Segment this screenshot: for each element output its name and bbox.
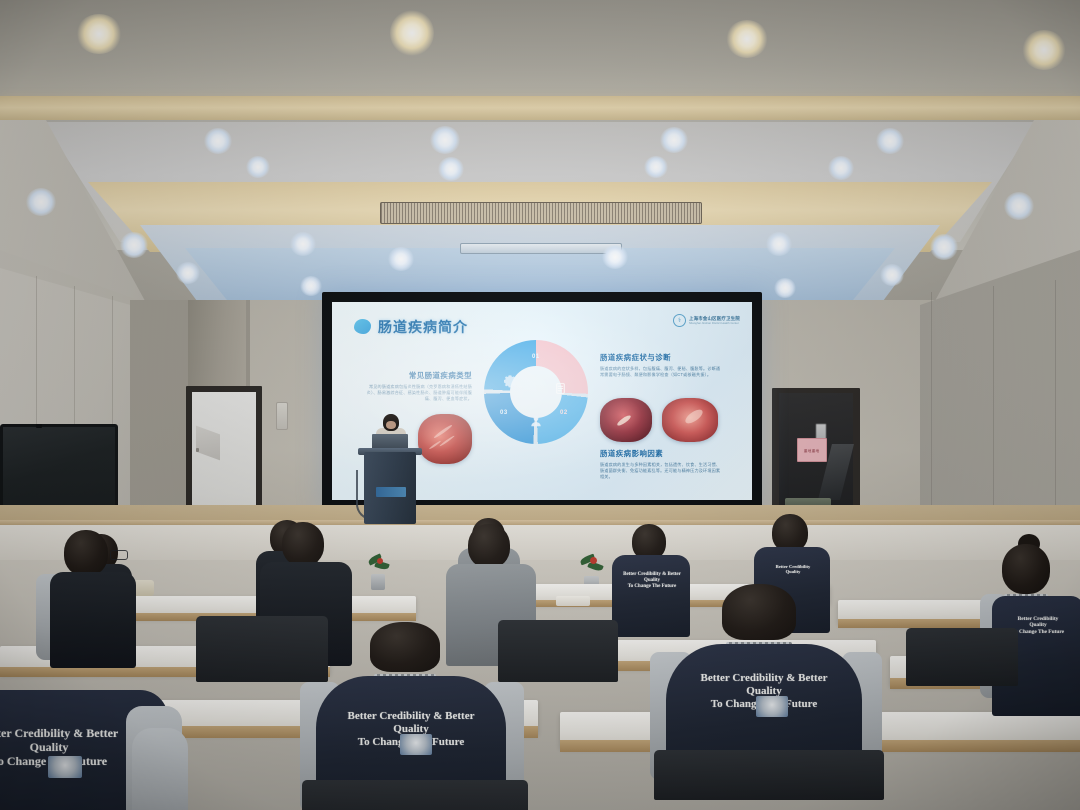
display-camera-icon xyxy=(36,424,42,428)
hospital-logo-icon: ⚕ xyxy=(673,314,686,327)
ceiling-light xyxy=(876,128,904,154)
door-sign-right: 重地重地 xyxy=(797,438,827,462)
mascot-icon xyxy=(756,696,788,717)
ceiling-cove-light-1 xyxy=(0,96,1080,122)
ceiling-light xyxy=(1004,192,1034,220)
section-body-symptoms: 肠道疾病的症状多样，包括腹痛、腹泻、便秘、腹胀等。诊断通常需要电子肠镜、粼便和影… xyxy=(600,366,722,378)
section-heading-common-types: 常见肠道疾病类型 xyxy=(368,370,472,381)
mascot-icon xyxy=(48,756,82,778)
air-vent-upper xyxy=(380,202,702,224)
endoscopy-image-right-2 xyxy=(662,398,718,442)
ceiling-light xyxy=(774,278,796,298)
jacket-line-1b: & Better xyxy=(433,710,474,722)
ceiling-light xyxy=(660,127,688,153)
ceiling-light xyxy=(644,156,668,178)
chair-back[interactable] xyxy=(498,620,618,682)
presenter-face xyxy=(386,421,396,429)
person-icon xyxy=(529,414,543,428)
jacket-line-1b: & Better xyxy=(662,572,681,577)
section-body-factors: 肠道疾病的发生与多种因素相关，包括遗传、饮食、生活习惯、肠道菌群失衡、免疫功能紊… xyxy=(600,462,724,480)
gear-icon xyxy=(502,372,518,388)
ceiling-light xyxy=(828,156,854,180)
jacket-line-2: Quality xyxy=(786,569,801,574)
process-donut-diagram: 01 02 03 xyxy=(484,340,588,444)
ceiling-light xyxy=(438,157,464,181)
jacket-line-2: Quality xyxy=(1029,622,1046,628)
slide-logo: ⚕ 上海市金山区医疗卫生院 Shanghai Jinshan District … xyxy=(673,314,740,327)
table-items-center xyxy=(556,596,590,606)
ceiling-light xyxy=(388,247,414,271)
endoscopy-highlight xyxy=(616,414,632,427)
jacket-line-3: To Change The Future xyxy=(628,584,676,589)
endoscopy-image-left xyxy=(418,414,472,464)
jacket-line-1: Better Credibility xyxy=(0,726,70,740)
jacket-line-1: Better Credibility xyxy=(623,572,661,577)
glasses-icon xyxy=(110,550,128,560)
light-switch-left[interactable] xyxy=(276,402,288,430)
jacket-line-3: To Change The Future xyxy=(1012,629,1064,635)
chair-front[interactable] xyxy=(302,780,528,810)
donut-label-02: 02 xyxy=(560,410,568,416)
ceiling-light xyxy=(246,156,270,178)
section-heading-factors: 肠道疾病影响因素 xyxy=(600,448,663,459)
plant-left xyxy=(366,556,392,592)
chair-back[interactable] xyxy=(906,628,1018,686)
ceiling-light xyxy=(120,232,148,258)
jacket-line-1b: & Better xyxy=(73,726,118,740)
air-vent-lower xyxy=(460,243,622,254)
chair-front[interactable] xyxy=(654,750,884,800)
endoscopy-highlight xyxy=(683,407,705,426)
jacket-text-block: Better Credibility Quality xyxy=(766,564,820,575)
ceiling-light xyxy=(726,20,768,58)
donut-label-03: 03 xyxy=(500,410,508,416)
ceiling-light xyxy=(204,128,232,154)
ceiling-light xyxy=(290,232,316,256)
jacket-line-1b: & Better xyxy=(786,672,827,684)
slide-title: 肠道疾病简介 xyxy=(378,317,468,337)
jacket-text-block: Better Credibility & Better Quality To C… xyxy=(622,572,682,590)
endoscopy-image-right-1 xyxy=(600,398,652,442)
title-bullet-icon xyxy=(354,319,371,334)
document-icon xyxy=(554,382,567,395)
jacket-line-1: Better Credibility xyxy=(348,710,431,722)
ceiling-light xyxy=(76,14,122,54)
ceiling-light xyxy=(602,245,628,269)
ceiling-light xyxy=(176,262,200,284)
ceiling-light xyxy=(1022,30,1066,70)
ceiling-light xyxy=(880,264,904,286)
ceiling-light xyxy=(390,10,434,56)
door-sign-text: 重地重地 xyxy=(804,448,820,453)
logo-subname: Shanghai Jinshan District Health Center xyxy=(689,322,740,325)
section-heading-symptoms: 肠道疾病症状与诊断 xyxy=(600,352,671,363)
jacket-line-1: Better Credibility xyxy=(701,672,784,684)
ceiling-light xyxy=(26,188,56,216)
podium-logo xyxy=(376,487,406,497)
conference-room-photo: 重地重地 肠道疾病简介 ⚕ 上海市金山区医疗卫生院 Shanghai Jinsh… xyxy=(0,0,1080,810)
donut-label-01: 01 xyxy=(532,354,540,360)
ceiling-light xyxy=(430,126,460,154)
ceiling-light xyxy=(766,232,792,256)
ceiling-light xyxy=(300,276,322,296)
jacket-line-2: Quality xyxy=(30,740,69,754)
endoscopy-highlight xyxy=(439,435,455,447)
section-body-common-types: 常见的肠道疾病包括炎性肠病（克罗恩病和溃疡性结肠炎）、肠易激综合征、感染性肠炎、… xyxy=(360,384,472,402)
ceiling-light xyxy=(930,234,958,260)
jacket-line-2: Quality xyxy=(644,578,660,583)
mascot-icon xyxy=(400,734,432,755)
chair-back[interactable] xyxy=(196,616,328,682)
door-handle-left[interactable] xyxy=(196,448,199,452)
stage-front-face xyxy=(0,525,1080,565)
